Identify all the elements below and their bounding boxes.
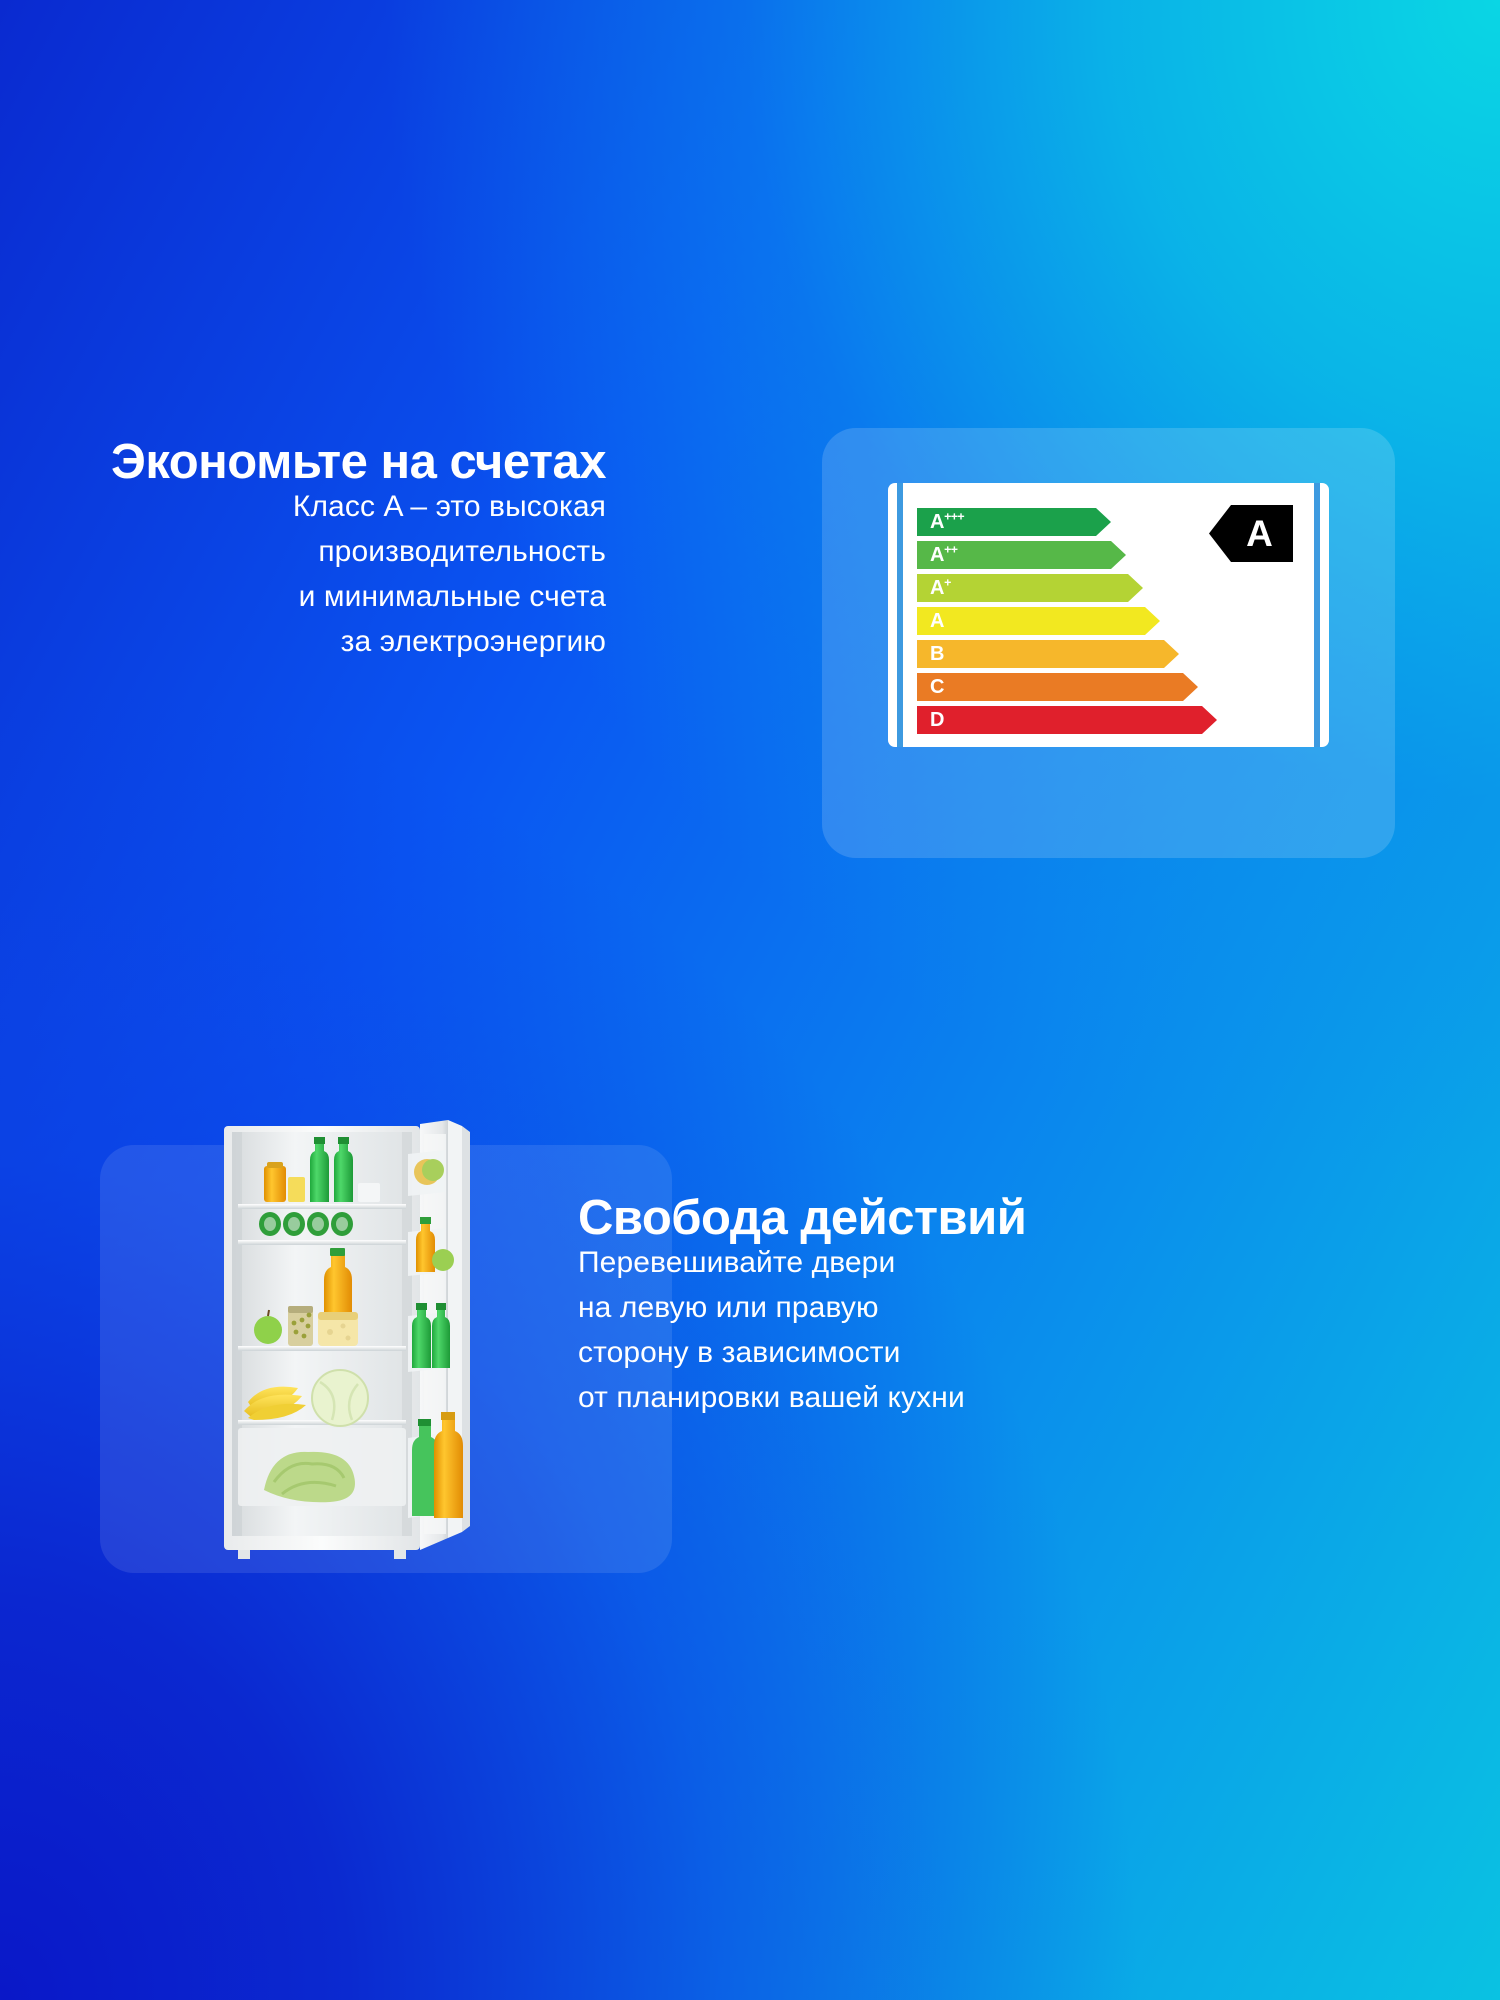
energy-rating-badge: A [1209,505,1293,562]
subtitle-line: от планировки вашей кухни [578,1375,1378,1420]
energy-class-bar-list: A+++ A++ A+ A [917,508,964,739]
bar-letter: D [930,709,944,731]
energy-label-panel: A+++ A++ A+ A [888,483,1329,747]
energy-class-bar: A++ [917,541,964,569]
bar-shape [917,640,1179,668]
background-gradient [0,0,1500,2000]
energy-class-bar: A+ [917,574,964,602]
bar-letter: B [930,643,944,665]
energy-class-bar: A+++ [917,508,964,536]
bar-label: A+ [930,578,951,598]
bar-label: A+++ [930,512,964,532]
energy-label-card: A+++ A++ A+ A [822,428,1395,858]
section-two-subtitle: Перевешивайте двери на левую или правую … [578,1240,1378,1420]
energy-class-bar: C [917,673,964,701]
bar-superscript: ++ [944,542,957,556]
subtitle-line: и минимальные счета [150,574,606,619]
subtitle-line: сторону в зависимости [578,1330,1378,1375]
subtitle-line: за электроэнергию [150,619,606,664]
bar-label: D [930,710,944,730]
subtitle-line: Класс A – это высокая [150,484,606,529]
subtitle-line: Перевешивайте двери [578,1240,1378,1285]
bar-shape [917,673,1198,701]
bar-label: B [930,644,944,664]
subtitle-line: производительность [150,529,606,574]
bar-letter: C [930,676,944,698]
energy-class-bar: D [917,706,964,734]
energy-rating-letter: A [1230,515,1272,552]
energy-class-bar: B [917,640,964,668]
energy-class-bar: A [917,607,964,635]
bar-superscript: +++ [944,509,964,523]
label-stripe-left-icon [897,483,903,747]
bar-label: A [930,611,944,631]
bar-label: A++ [930,545,957,565]
section-two-heading: Свобода действий [578,1193,1378,1245]
bar-letter: A [930,577,944,599]
bar-label: C [930,677,944,697]
bar-letter: A [930,610,944,632]
bar-letter: A [930,511,944,533]
subtitle-line: на левую или правую [578,1285,1378,1330]
section-one-heading: Экономьте на счетах [98,437,606,489]
bar-letter: A [930,544,944,566]
refrigerator-photo [212,1120,500,1560]
bar-shape [917,607,1160,635]
label-stripe-right-icon [1314,483,1320,747]
bar-superscript: + [944,575,951,589]
section-one-subtitle: Класс A – это высокая производительность… [150,484,606,664]
bar-shape [917,706,1217,734]
